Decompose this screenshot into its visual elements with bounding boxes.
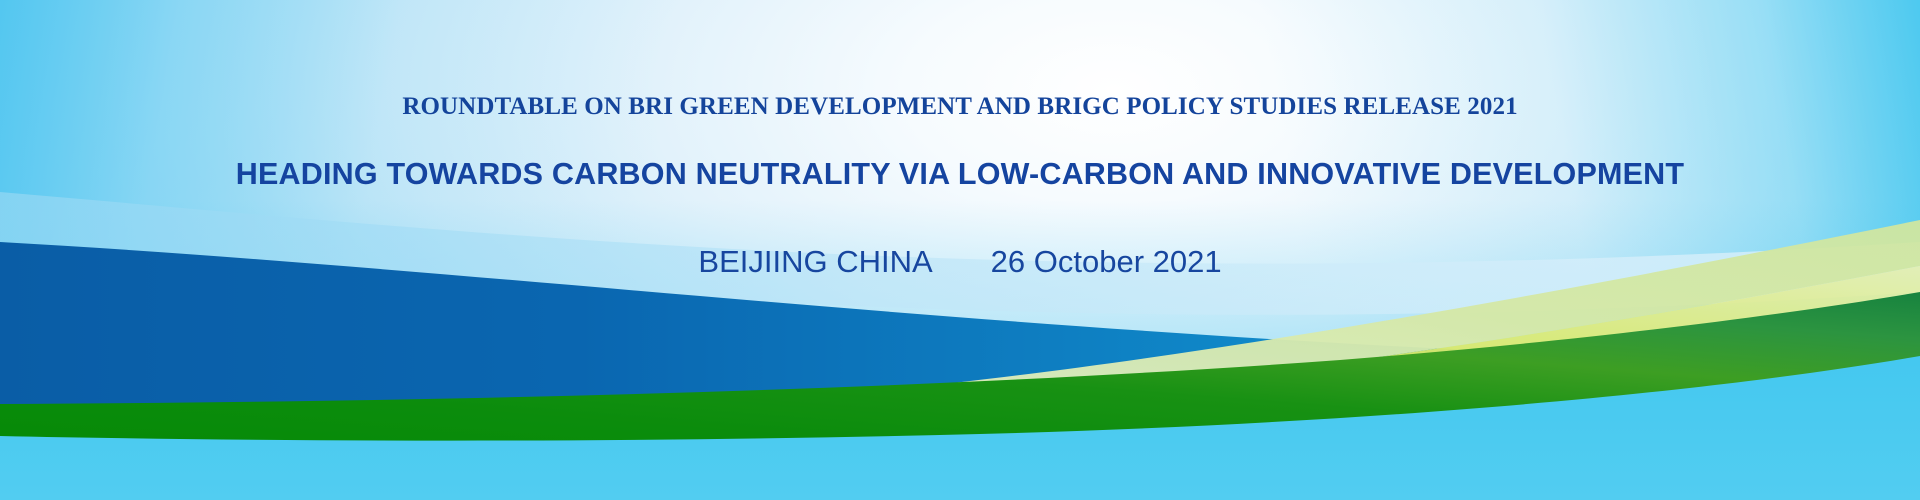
event-date: 26 October 2021 (991, 244, 1222, 280)
event-kicker: ROUNDTABLE ON BRI GREEN DEVELOPMENT AND … (0, 0, 1920, 121)
event-headline: HEADING TOWARDS CARBON NEUTRALITY VIA LO… (0, 121, 1920, 191)
event-banner: ROUNDTABLE ON BRI GREEN DEVELOPMENT AND … (0, 0, 1920, 500)
event-venue-row: BEIJIING CHINA 26 October 2021 (0, 191, 1920, 280)
event-location: BEIJIING CHINA (698, 244, 932, 280)
banner-text-block: ROUNDTABLE ON BRI GREEN DEVELOPMENT AND … (0, 0, 1920, 279)
